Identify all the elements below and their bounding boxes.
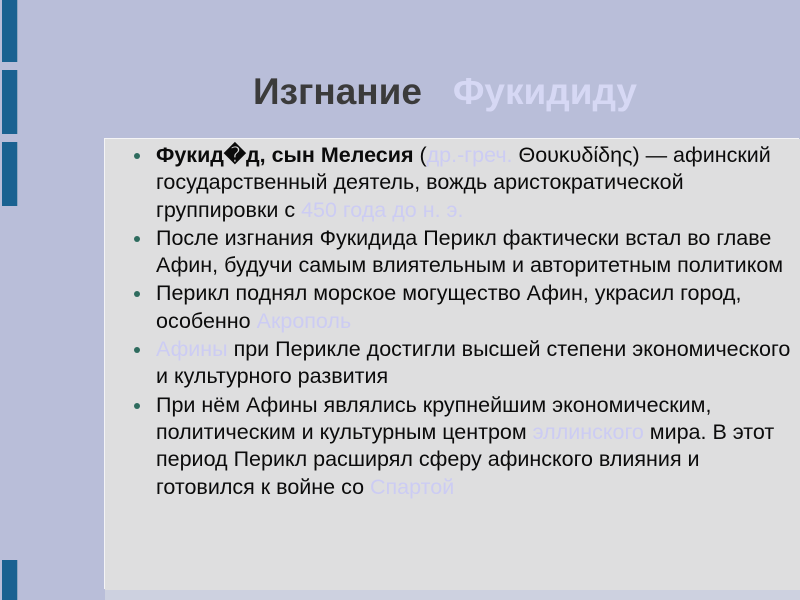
- decorative-bar-1: [2, 0, 18, 62]
- bullet-hyperlink[interactable]: др.-греч.: [427, 143, 513, 167]
- decorative-bar-2: [2, 70, 18, 134]
- slide-title-main: Изгнание: [253, 71, 422, 112]
- bullet-item: Перикл поднял морское могущество Афин, у…: [108, 280, 798, 335]
- decorative-bar-3: [2, 142, 18, 206]
- slide-title: Изгнание Фукидиду: [105, 70, 785, 114]
- bullet-plain-text: при Перикле достигли высшей степени экон…: [156, 337, 790, 388]
- bullet-text: Афины при Перикле достигли высшей степен…: [156, 336, 798, 391]
- bullet-text: Фукид�д, сын Мелесия (др.-греч. Θουκυδίδ…: [156, 142, 798, 224]
- bullet-item: После изгнания Фукидида Перикл фактическ…: [108, 225, 798, 280]
- bullet-hyperlink[interactable]: 450 года до н. э.: [301, 198, 463, 222]
- bullet-item: При нём Афины являлись крупнейшим эконом…: [108, 392, 798, 501]
- bullet-text: При нём Афины являлись крупнейшим эконом…: [156, 392, 798, 501]
- decorative-left-rail: [0, 0, 18, 600]
- bullet-hyperlink[interactable]: эллинского: [533, 420, 644, 444]
- decorative-bar-4: [2, 560, 18, 600]
- bullet-text: Перикл поднял морское могущество Афин, у…: [156, 280, 798, 335]
- bullet-dot-icon: [134, 153, 140, 159]
- bullet-hyperlink[interactable]: Афины: [156, 337, 228, 361]
- bullet-list: Фукид�д, сын Мелесия (др.-греч. Θουκυδίδ…: [108, 142, 798, 502]
- bullet-hyperlink[interactable]: Акрополь: [257, 309, 352, 333]
- slide: Изгнание Фукидиду Фукид�д, сын Мелесия (…: [0, 0, 800, 600]
- bullet-item: Фукид�д, сын Мелесия (др.-греч. Θουκυδίδ…: [108, 142, 798, 224]
- bullet-plain-text: Перикл поднял морское могущество Афин, у…: [156, 281, 741, 332]
- panel-bottom-strip: [105, 590, 800, 600]
- bullet-text: После изгнания Фукидида Перикл фактическ…: [156, 225, 798, 280]
- slide-title-link[interactable]: Фукидиду: [453, 71, 637, 112]
- bullet-dot-icon: [134, 347, 140, 353]
- bullet-dot-icon: [134, 403, 140, 409]
- bullet-bold-text: Фукид�д, сын Мелесия: [156, 143, 414, 167]
- bullet-plain-text: (: [414, 143, 427, 167]
- bullet-item: Афины при Перикле достигли высшей степен…: [108, 336, 798, 391]
- bullet-plain-text: После изгнания Фукидида Перикл фактическ…: [156, 226, 783, 277]
- bullet-dot-icon: [134, 236, 140, 242]
- bullet-dot-icon: [134, 291, 140, 297]
- bullet-hyperlink[interactable]: Спартой: [370, 475, 454, 499]
